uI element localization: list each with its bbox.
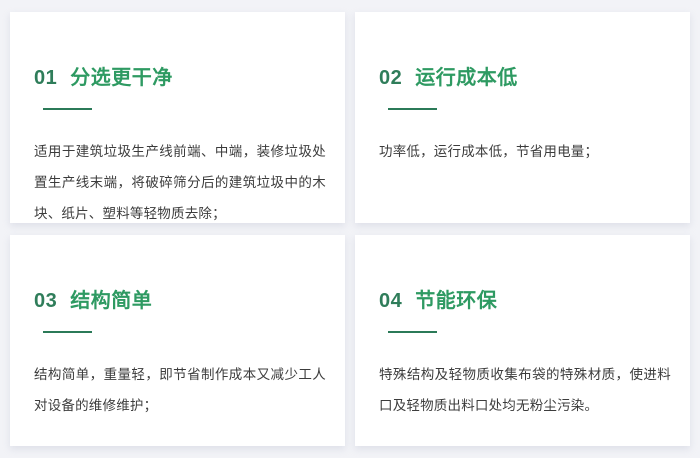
- card-title: 分选更干净: [70, 61, 173, 90]
- feature-card-02: 02 运行成本低 功率低，运行成本低，节省用电量；: [355, 12, 690, 223]
- card-index-number: 04: [379, 290, 402, 313]
- feature-card-01: 01 分选更干净 适用于建筑垃圾生产线前端、中端，装修垃圾处置生产线末端，将破碎…: [10, 12, 345, 223]
- card-body-text: 结构简单，重量轻，即节省制作成本又减少工人对设备的维修维护；: [34, 359, 326, 421]
- card-title: 节能环保: [415, 284, 497, 313]
- card-body-text: 特殊结构及轻物质收集布袋的特殊材质，使进料口及轻物质出料口处均无粉尘污染。: [379, 359, 671, 421]
- feature-card-04: 04 节能环保 特殊结构及轻物质收集布袋的特殊材质，使进料口及轻物质出料口处均无…: [355, 235, 690, 446]
- card-heading: 03 结构简单: [34, 284, 152, 313]
- card-heading: 02 运行成本低: [379, 61, 518, 90]
- card-heading: 01 分选更干净: [34, 61, 173, 90]
- title-underline-divider: [43, 331, 92, 333]
- title-underline-divider: [388, 108, 437, 110]
- card-index-number: 03: [34, 290, 57, 313]
- card-body-text: 适用于建筑垃圾生产线前端、中端，装修垃圾处置生产线末端，将破碎筛分后的建筑垃圾中…: [34, 136, 326, 224]
- card-body-text: 功率低，运行成本低，节省用电量；: [379, 136, 671, 167]
- card-heading: 04 节能环保: [379, 284, 497, 313]
- card-title: 结构简单: [70, 284, 152, 313]
- feature-card-grid: 01 分选更干净 适用于建筑垃圾生产线前端、中端，装修垃圾处置生产线末端，将破碎…: [10, 12, 690, 446]
- feature-card-03: 03 结构简单 结构简单，重量轻，即节省制作成本又减少工人对设备的维修维护；: [10, 235, 345, 446]
- card-index-number: 02: [379, 67, 402, 90]
- title-underline-divider: [43, 108, 92, 110]
- card-index-number: 01: [34, 67, 57, 90]
- title-underline-divider: [388, 331, 437, 333]
- card-title: 运行成本低: [415, 61, 518, 90]
